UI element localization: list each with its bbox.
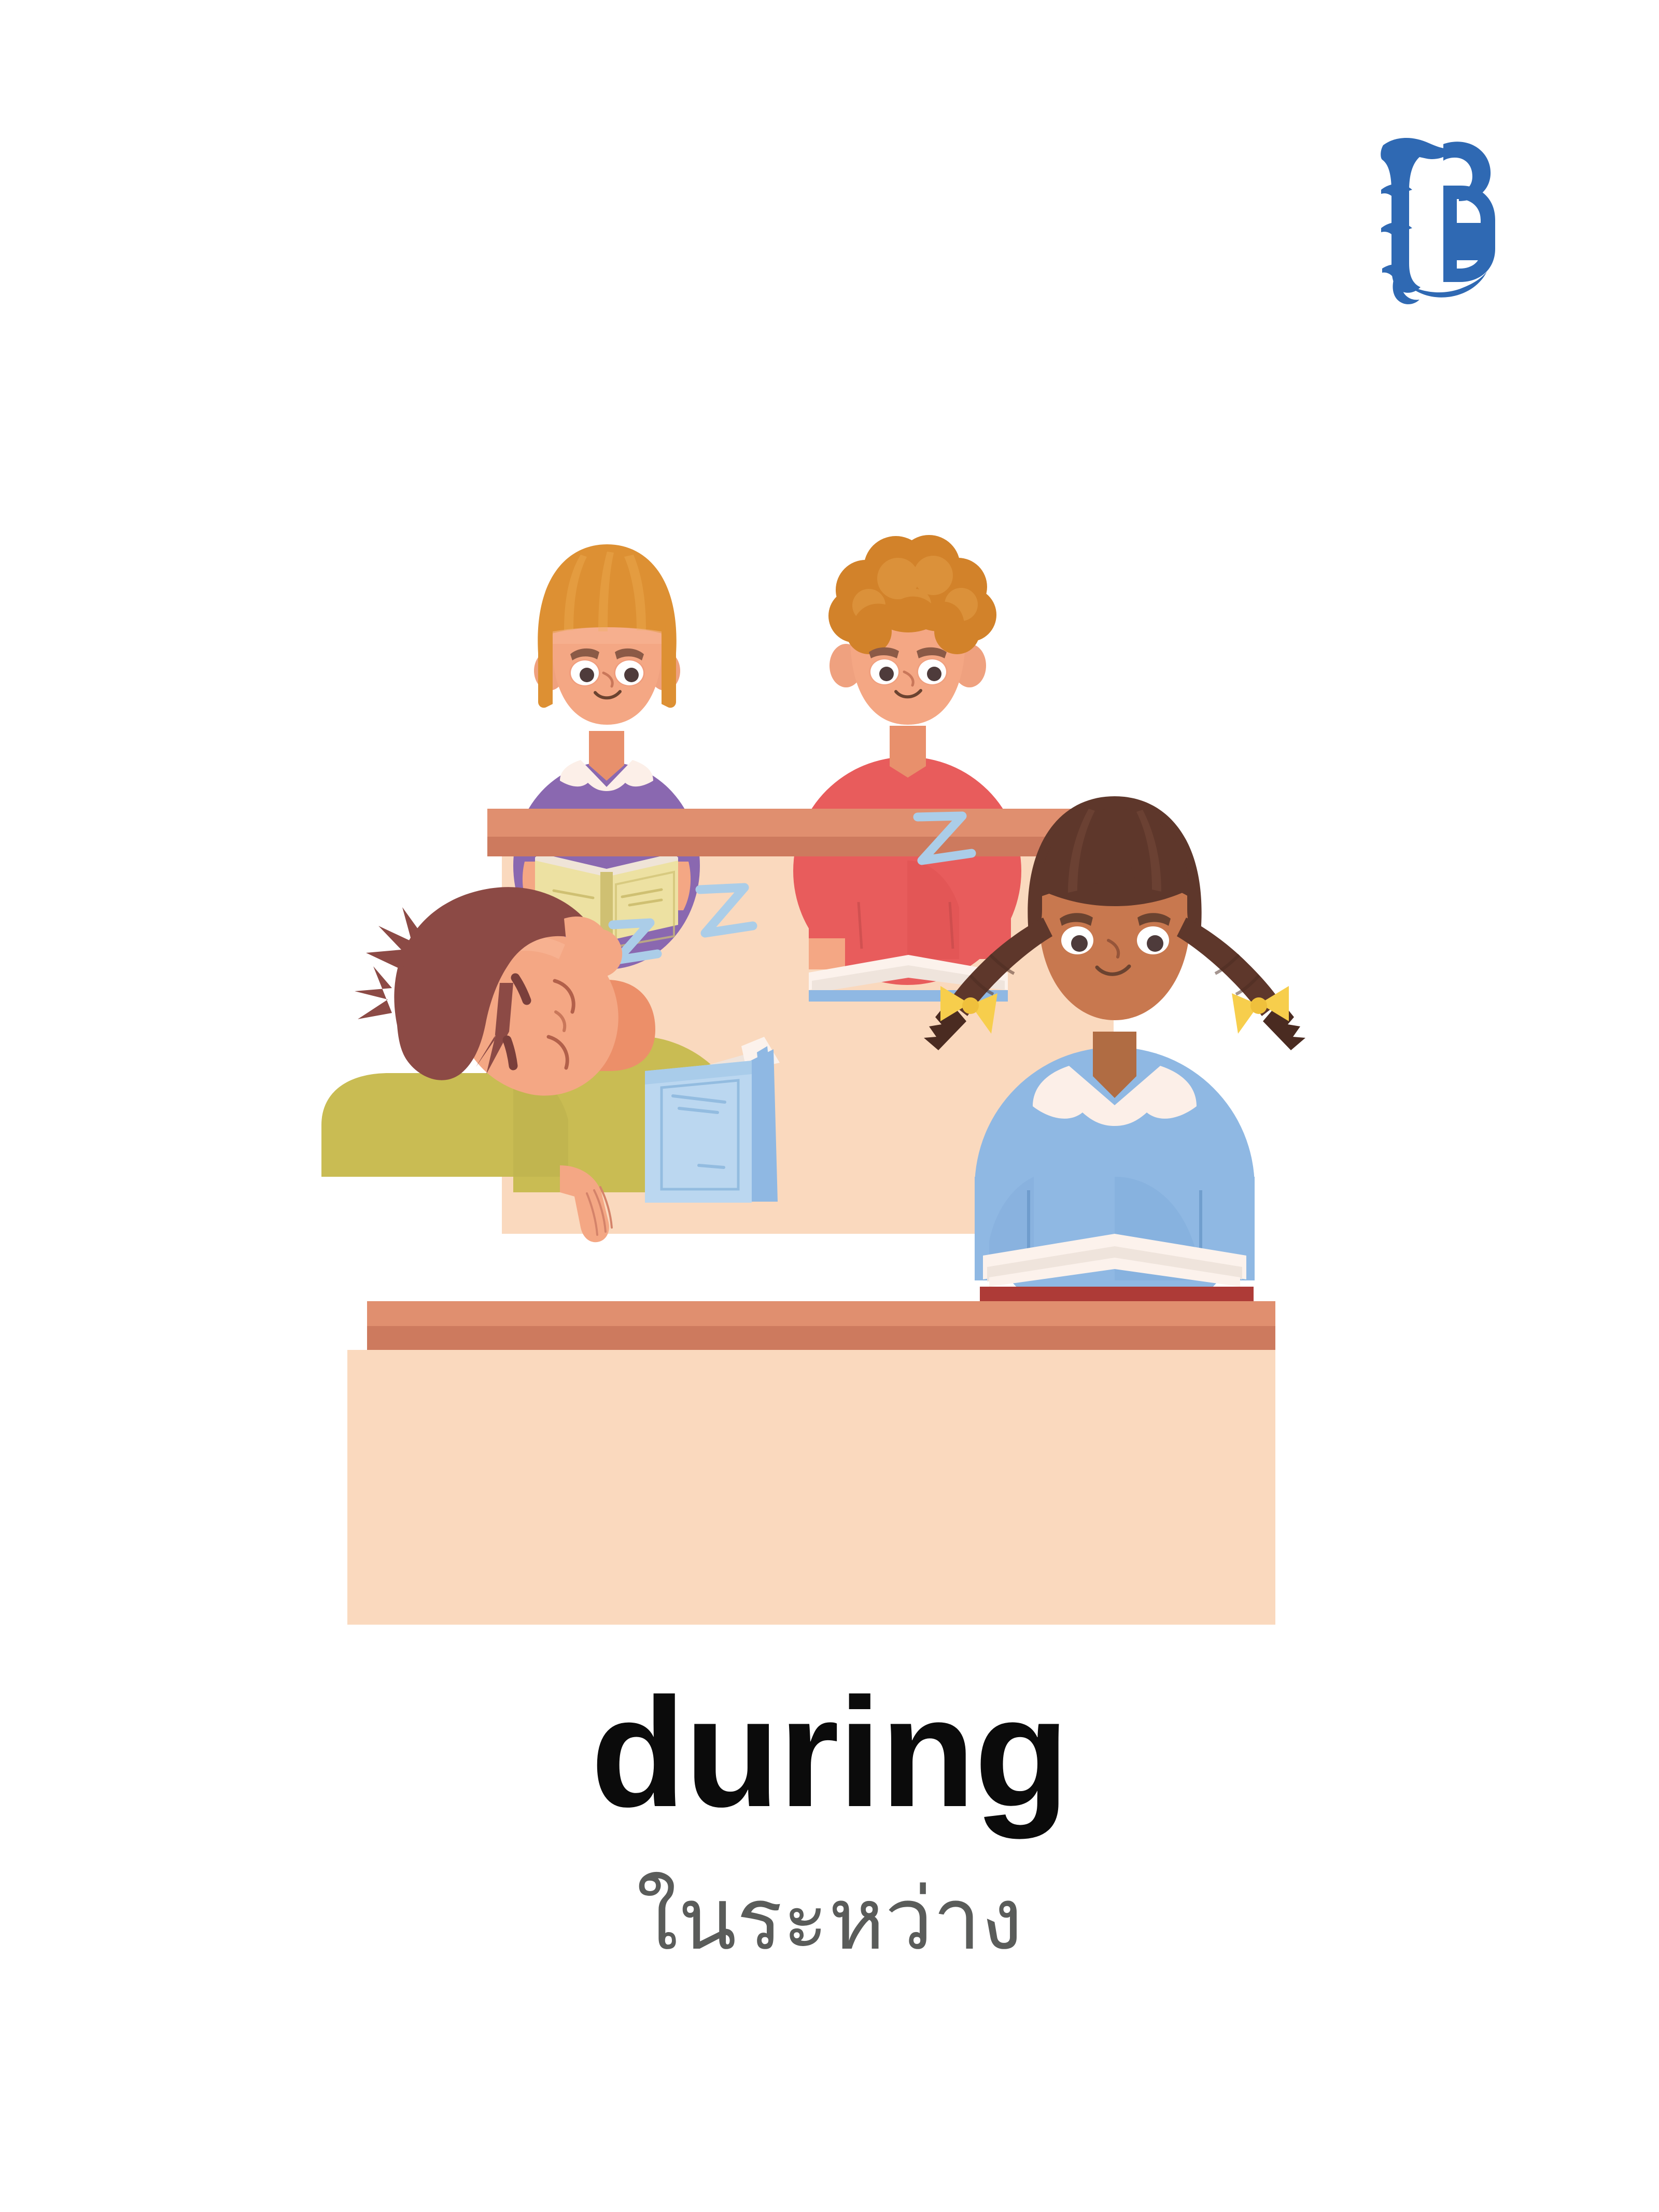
- vocabulary-term: during: [0, 1674, 1659, 1830]
- word-block: during ในระหว่าง: [0, 1674, 1659, 1969]
- flashcard: during ในระหว่าง: [0, 0, 1659, 2212]
- brand-logo-b: [1342, 113, 1518, 320]
- boy-curly-red-shirt: [793, 535, 1021, 1002]
- vocabulary-translation: ในระหว่าง: [0, 1870, 1659, 1969]
- classroom-illustration: [290, 451, 1369, 1643]
